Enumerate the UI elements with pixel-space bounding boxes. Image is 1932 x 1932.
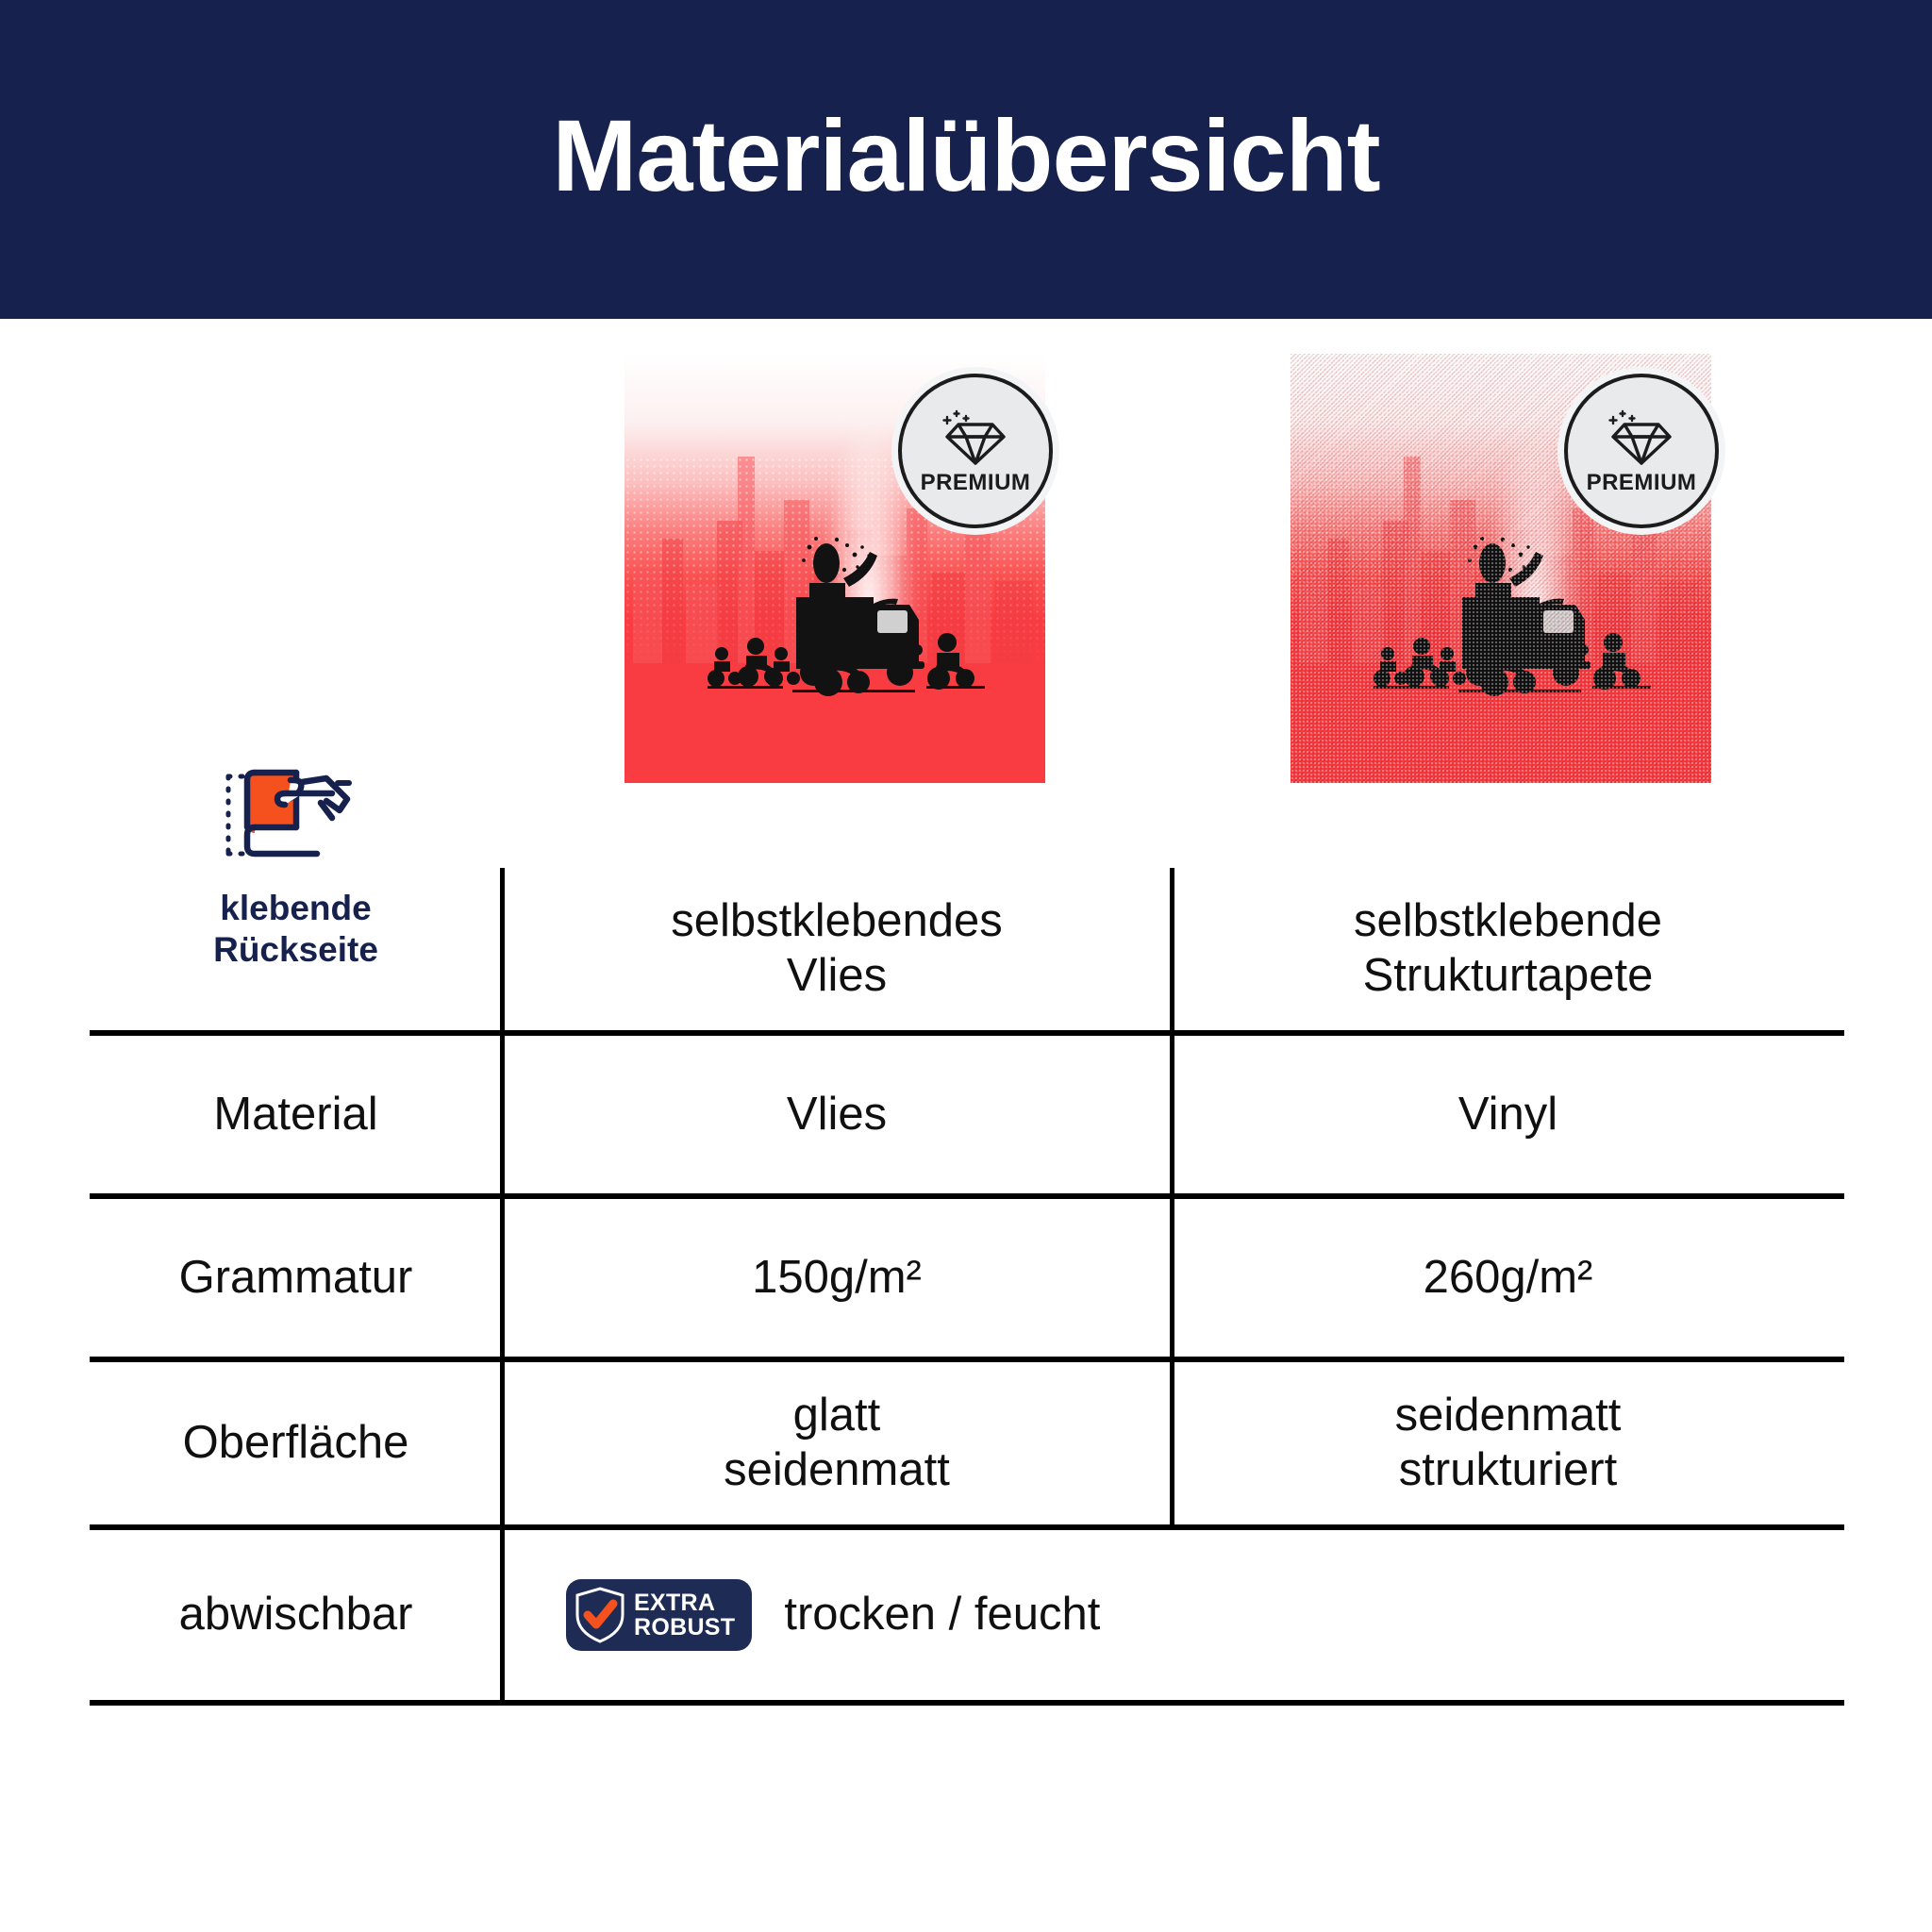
premium-badge-label: PREMIUM [921, 470, 1031, 496]
row-value-merged: EXTRA ROBUST trocken / feucht [502, 1530, 1844, 1700]
row-value-col2: 260g/m² [1172, 1199, 1844, 1357]
premium-badge: PREMIUM [898, 374, 1053, 528]
row-value-col1: 150g/m² [502, 1199, 1172, 1357]
row-value-col2-line2: strukturiert [1395, 1443, 1622, 1498]
row-value-col1: glatt seidenmatt [502, 1362, 1172, 1524]
row-value-col2: seidenmatt strukturiert [1172, 1362, 1844, 1524]
diamond-icon [934, 408, 1017, 468]
col2-header-line2: Strukturtapete [1354, 949, 1662, 1004]
row-label: Oberfläche [90, 1362, 502, 1524]
extra-robust-line1: EXTRA [634, 1591, 735, 1615]
table-header-label-cell [90, 868, 502, 1030]
table-header-col2: selbstklebende Strukturtapete [1172, 868, 1844, 1030]
premium-badge: PREMIUM [1564, 374, 1719, 528]
col2-header-line1: selbstklebende [1354, 894, 1662, 949]
page-title: Materialübersicht [552, 105, 1379, 207]
extra-robust-text: EXTRA ROBUST [634, 1591, 735, 1640]
table-header-row: selbstklebendes Vlies selbstklebende Str… [90, 868, 1844, 1030]
extra-robust-badge: EXTRA ROBUST [566, 1579, 752, 1651]
shield-check-icon [575, 1587, 625, 1643]
row-value-col2: Vinyl [1172, 1036, 1844, 1193]
header-bar: Materialübersicht [0, 0, 1932, 319]
row-label: Material [90, 1036, 502, 1193]
material-comparison-table: selbstklebendes Vlies selbstklebende Str… [90, 868, 1844, 1706]
row-label: Grammatur [90, 1199, 502, 1357]
col1-header-line1: selbstklebendes [671, 894, 1002, 949]
row-value-col1-line1: glatt [724, 1389, 950, 1443]
wipeable-value: trocken / feucht [784, 1588, 1100, 1642]
premium-badge-label: PREMIUM [1587, 470, 1697, 496]
table-row: Oberfläche glatt seidenmatt seidenmatt s… [90, 1362, 1844, 1524]
extra-robust-line2: ROBUST [634, 1615, 735, 1640]
table-bottom-border [90, 1700, 1844, 1706]
row-label: abwischbar [90, 1530, 502, 1700]
table-row: Grammatur 150g/m² 260g/m² [90, 1199, 1844, 1357]
peel-sticky-back-icon [217, 759, 375, 873]
row-value-col2-line1: seidenmatt [1395, 1389, 1622, 1443]
diamond-icon [1600, 408, 1683, 468]
table-row-wipeable: abwischbar EXTRA ROBUST trocken / feucht [90, 1530, 1844, 1700]
row-value-col1: Vlies [502, 1036, 1172, 1193]
col1-header-line2: Vlies [671, 949, 1002, 1004]
row-value-col1-line2: seidenmatt [724, 1443, 950, 1498]
table-row: Material Vlies Vinyl [90, 1036, 1844, 1193]
table-header-col1: selbstklebendes Vlies [502, 868, 1172, 1030]
